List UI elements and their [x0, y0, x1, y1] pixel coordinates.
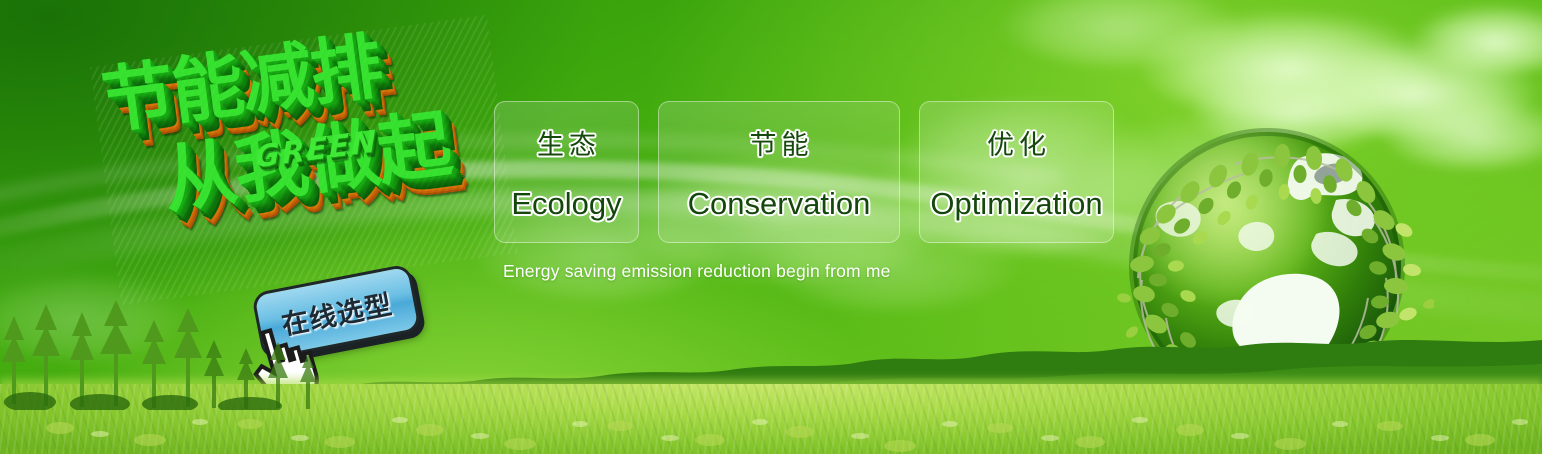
feature-card-ecology[interactable]: 生态 Ecology — [494, 101, 639, 243]
eco-promo-banner: 节能减排 从我做起 GREEN 在线选型 生态 Ecology 节能 Conse… — [0, 0, 1542, 454]
feature-card-en-label: Ecology — [511, 186, 621, 222]
banner-subtitle: Energy saving emission reduction begin f… — [503, 261, 891, 282]
grass-meadow-icon — [0, 384, 1542, 454]
feature-card-group: 生态 Ecology 节能 Conservation 优化 Optimizati… — [494, 101, 1114, 243]
online-selection-label: 在线选型 — [278, 282, 395, 342]
feature-card-optimization[interactable]: 优化 Optimization — [919, 101, 1114, 243]
feature-card-en-label: Optimization — [930, 186, 1102, 222]
feature-card-cn-label: 节能 — [745, 123, 814, 162]
feature-card-cn-label: 生态 — [532, 123, 601, 162]
feature-card-en-label: Conservation — [688, 186, 871, 222]
feature-card-conservation[interactable]: 节能 Conservation — [658, 101, 900, 243]
feature-card-cn-label: 优化 — [982, 123, 1051, 162]
